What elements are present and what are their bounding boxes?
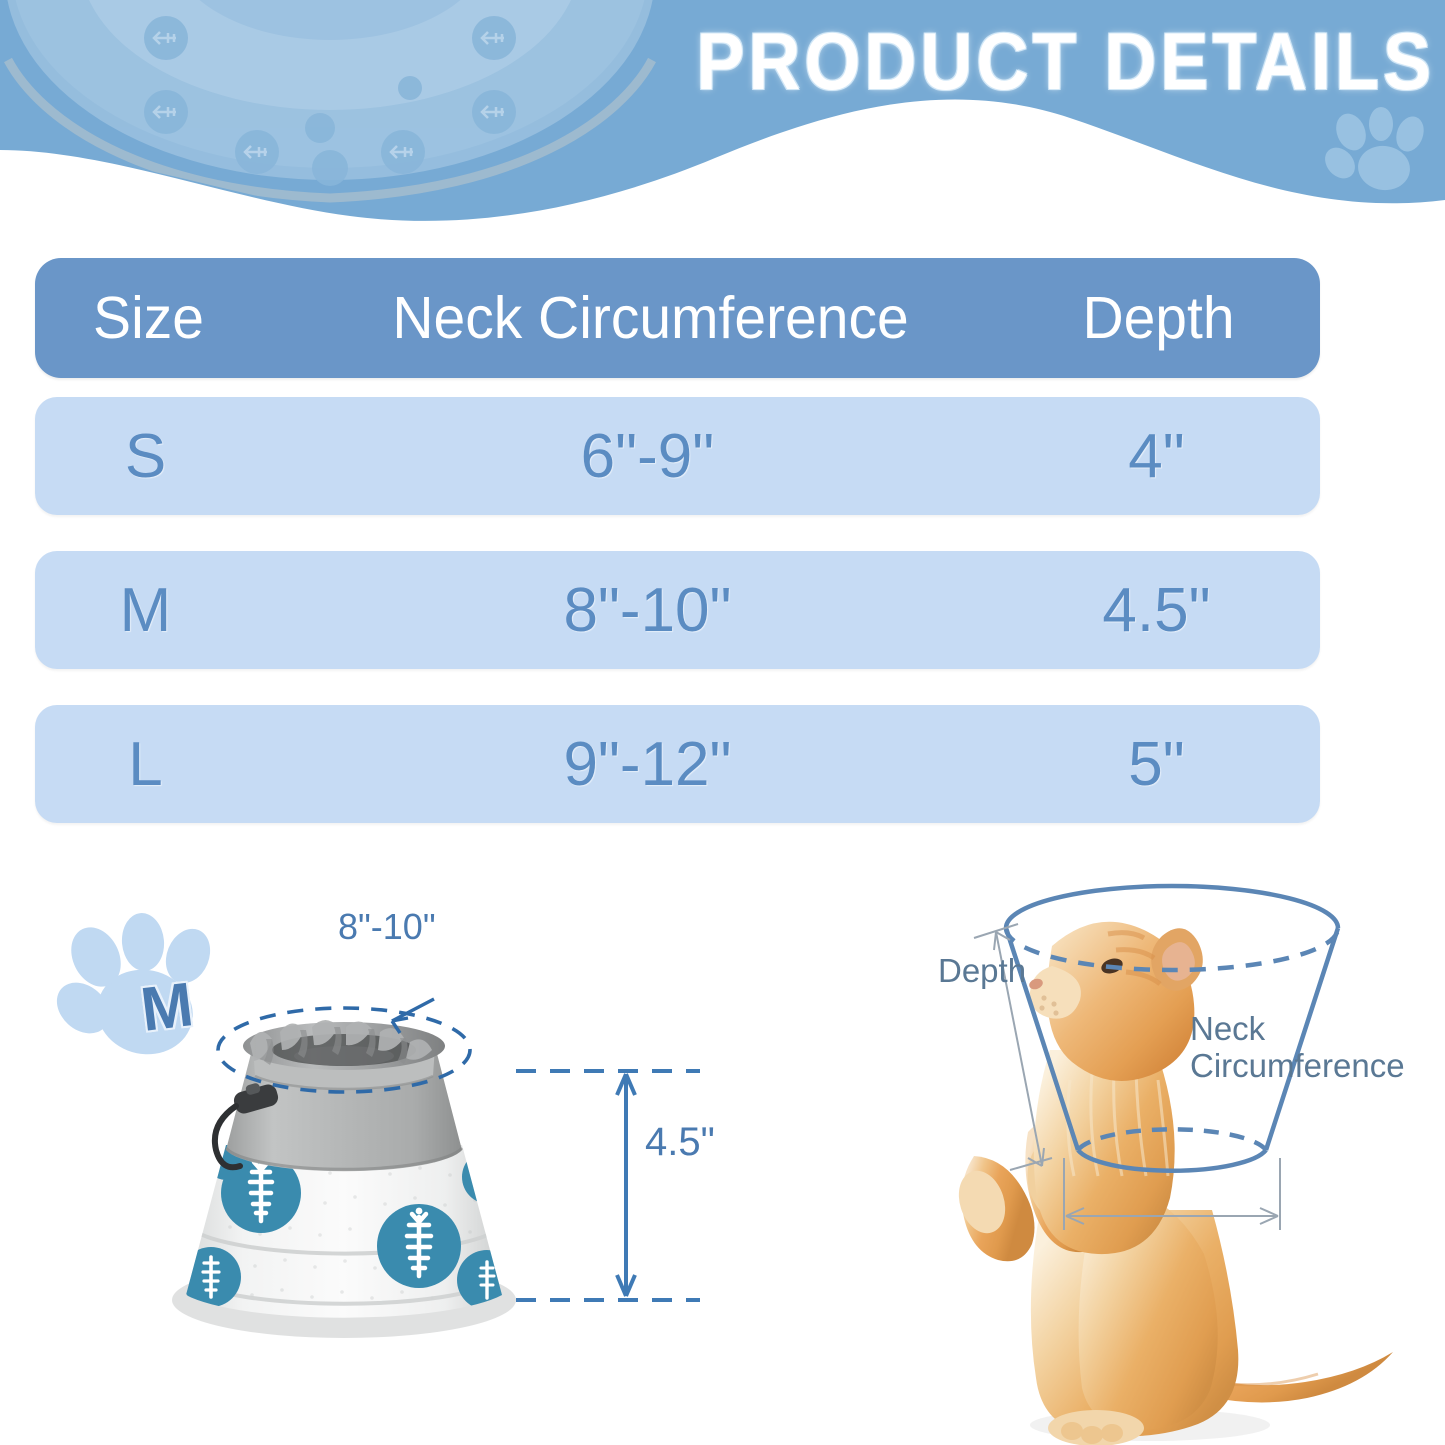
cell-neck: 9"-12" (290, 729, 1005, 800)
product-dimension-diagram: M 8"-10" 4.5" (40, 880, 760, 1440)
column-header-depth: Depth (1005, 284, 1320, 353)
column-header-neck: Neck Circumference (290, 284, 1005, 353)
cell-depth: 4.5" (1005, 575, 1320, 646)
size-chart-table: Size Neck Circumference Depth S 6"-9" 4"… (35, 258, 1320, 859)
cat-neck-circumference-label: Neck Circumference (1190, 1010, 1405, 1084)
size-badge: M (70, 920, 255, 1085)
cell-neck: 8"-10" (290, 575, 1005, 646)
header-banner: PRODUCT DETAILS (0, 0, 1445, 260)
depth-dimension-arrow (617, 1074, 635, 1296)
neck-dimension-label: 8"-10" (338, 906, 436, 948)
cell-depth: 4" (1005, 421, 1320, 492)
page-title: PRODUCT DETAILS (575, 14, 1435, 110)
cat-illustration-diagram: Depth Neck Circumference (900, 880, 1445, 1445)
cell-depth: 5" (1005, 729, 1320, 800)
bottom-diagrams: M 8"-10" 4.5" (0, 880, 1445, 1445)
depth-dimension-label: 4.5" (645, 1120, 715, 1165)
cell-size: S (35, 421, 290, 492)
size-badge-letter: M (118, 967, 216, 1048)
cone-top-back (1006, 886, 1338, 928)
table-row: L 9"-12" 5" (35, 705, 1320, 823)
table-row: M 8"-10" 4.5" (35, 551, 1320, 669)
cat-depth-label: Depth (938, 952, 1026, 989)
table-row: S 6"-9" 4" (35, 397, 1320, 515)
cell-size: L (35, 729, 290, 800)
depth-extension-lines (516, 1071, 700, 1300)
column-header-size: Size (35, 284, 290, 353)
table-header-row: Size Neck Circumference Depth (35, 258, 1320, 378)
cell-size: M (35, 575, 290, 646)
cell-neck: 6"-9" (290, 421, 1005, 492)
